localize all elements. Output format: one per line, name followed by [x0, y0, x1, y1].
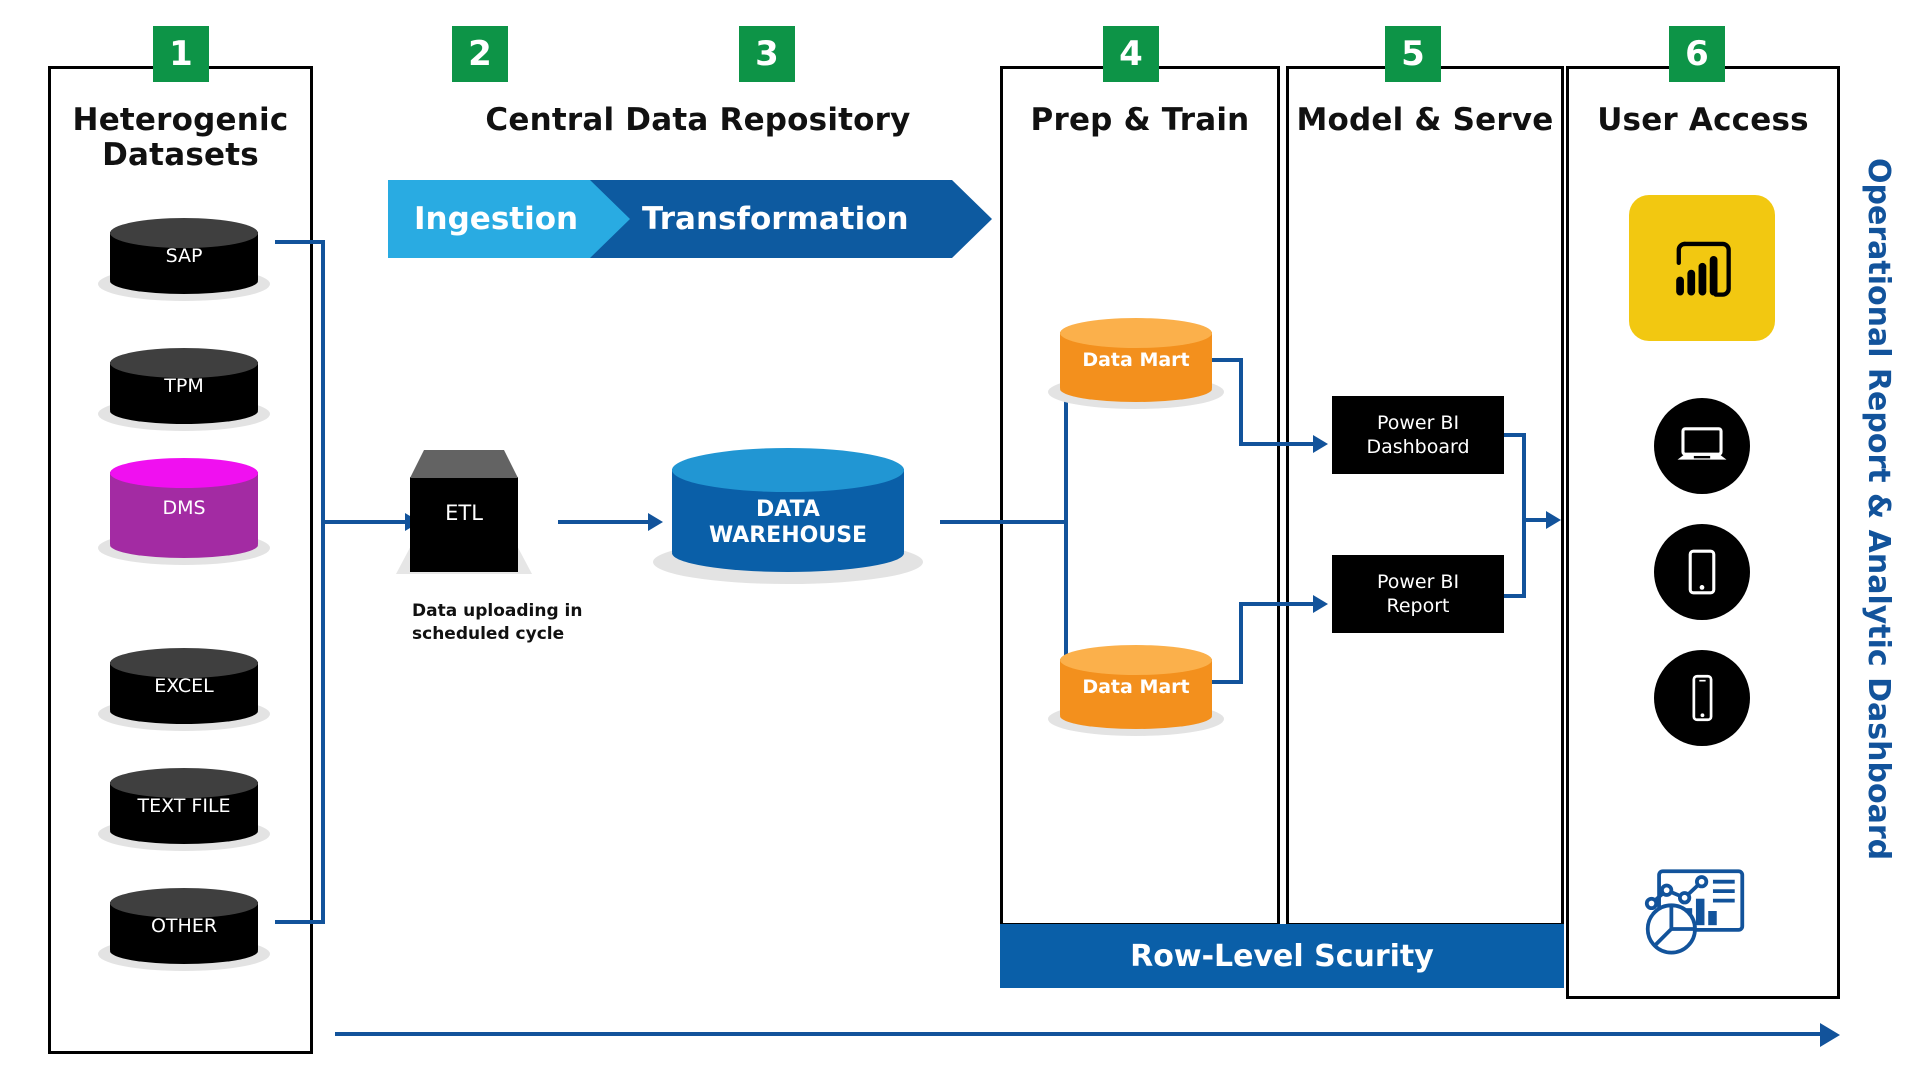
- connector-mart-bottom-to-report: [1239, 602, 1316, 606]
- connector-mart-bottom-rise: [1239, 602, 1243, 684]
- connector-mart-top-to-dashboard: [1239, 442, 1316, 446]
- cylinder-top: [1060, 318, 1212, 348]
- arrow-etl-to-warehouse: [648, 513, 663, 531]
- architecture-diagram: 1 2 3 4 5 6 Heterogenic Datasets Central…: [0, 0, 1920, 1081]
- cylinder-top: [672, 448, 904, 492]
- bottom-flow-arrow: [1820, 1023, 1840, 1047]
- data-warehouse-cylinder: DATA WAREHOUSE: [672, 448, 904, 568]
- smartphone-icon: [1654, 650, 1750, 746]
- arrow-to-powerbi-report: [1313, 595, 1328, 613]
- connector-warehouse-to-prep: [940, 520, 1068, 524]
- powerbi-dashboard-box: Power BI Dashboard: [1332, 396, 1504, 474]
- panel-title-user-access: User Access: [1566, 103, 1840, 138]
- analytics-dashboard-icon: [1643, 865, 1747, 961]
- dataset-cylinder-text-file: TEXT FILE: [110, 768, 258, 840]
- cylinder-label: EXCEL: [110, 675, 258, 697]
- title-line-1: Heterogenic: [48, 103, 313, 138]
- stage-badge-3: 3: [739, 26, 795, 82]
- connector-datasets-to-etl: [321, 520, 408, 524]
- connector-prep-split-spine: [1064, 355, 1068, 683]
- power-bi-logo-icon: [1629, 195, 1775, 341]
- cylinder-top: [110, 768, 258, 798]
- pipeline-label-ingestion: Ingestion: [414, 201, 578, 237]
- panel-prep-and-train: [1000, 66, 1280, 926]
- cylinder-label: DATA WAREHOUSE: [672, 497, 904, 549]
- cylinder-label: SAP: [110, 245, 258, 267]
- arrow-to-user-access: [1546, 511, 1561, 529]
- panel-title-model-and-serve: Model & Serve: [1286, 103, 1564, 138]
- tablet-icon: [1654, 524, 1750, 620]
- row-level-security-label: Row-Level Scurity: [1130, 939, 1434, 974]
- warehouse-label-line-1: DATA: [672, 497, 904, 523]
- cylinder-label: OTHER: [110, 915, 258, 937]
- pipeline-stage-transformation: Transformation: [590, 180, 992, 258]
- powerbi-dashboard-line-2: Dashboard: [1366, 435, 1469, 459]
- bottom-flow-line: [335, 1032, 1825, 1036]
- stage-badge-4: 4: [1103, 26, 1159, 82]
- laptop-icon: [1654, 398, 1750, 494]
- connector-bracket-spine: [321, 240, 325, 924]
- dataset-cylinder-tpm: TPM: [110, 348, 258, 420]
- dataset-cylinder-sap: SAP: [110, 218, 258, 290]
- stage-badge-6: 6: [1669, 26, 1725, 82]
- stage-badge-2: 2: [452, 26, 508, 82]
- side-label-operational-report: Operational Report & Analytic Dashboard: [1861, 158, 1896, 860]
- arrow-to-powerbi-dashboard: [1313, 435, 1328, 453]
- connector-mart-top-drop: [1239, 358, 1243, 446]
- cylinder-top: [110, 888, 258, 918]
- etl-caption-line-1: Data uploading in: [412, 600, 632, 623]
- warehouse-label-line-2: WAREHOUSE: [672, 523, 904, 549]
- cylinder-label: TPM: [110, 375, 258, 397]
- cylinder-top: [110, 218, 258, 248]
- cylinder-label: Data Mart: [1060, 349, 1212, 371]
- etl-label: ETL: [410, 501, 518, 525]
- stage-badge-1: 1: [153, 26, 209, 82]
- connector-bracket-bottom: [275, 920, 325, 924]
- panel-title-heterogenic-datasets: Heterogenic Datasets: [48, 103, 313, 174]
- dataset-cylinder-excel: EXCEL: [110, 648, 258, 720]
- connector-artifacts-merge-spine: [1522, 433, 1526, 596]
- powerbi-report-box: Power BI Report: [1332, 555, 1504, 633]
- pipeline-label-transformation: Transformation: [642, 201, 909, 237]
- row-level-security-banner: Row-Level Scurity: [1000, 924, 1564, 988]
- etl-process-cube: ETL: [410, 450, 518, 572]
- powerbi-report-line-1: Power BI: [1377, 570, 1459, 594]
- dataset-cylinder-other: OTHER: [110, 888, 258, 960]
- powerbi-report-line-2: Report: [1377, 594, 1459, 618]
- data-mart-cylinder-top: Data Mart: [1060, 318, 1212, 398]
- etl-caption: Data uploading in scheduled cycle: [412, 600, 632, 646]
- powerbi-dashboard-line-1: Power BI: [1366, 411, 1469, 435]
- etl-top-face: [410, 450, 518, 478]
- cylinder-label: TEXT FILE: [110, 795, 258, 817]
- title-line-2: Datasets: [48, 138, 313, 173]
- cylinder-label: Data Mart: [1060, 676, 1212, 698]
- stage-badge-5: 5: [1385, 26, 1441, 82]
- connector-etl-to-warehouse: [558, 520, 651, 524]
- dataset-cylinder-dms: DMS: [110, 458, 258, 554]
- cylinder-top: [110, 648, 258, 678]
- cylinder-top: [110, 458, 258, 488]
- etl-caption-line-2: scheduled cycle: [412, 623, 632, 646]
- data-mart-cylinder-bottom: Data Mart: [1060, 645, 1212, 725]
- cylinder-label: DMS: [110, 497, 258, 519]
- panel-title-prep-and-train: Prep & Train: [1000, 103, 1280, 138]
- cylinder-top: [110, 348, 258, 378]
- connector-bracket-top: [275, 240, 325, 244]
- cylinder-top: [1060, 645, 1212, 675]
- panel-title-central-data-repository: Central Data Repository: [388, 103, 1008, 138]
